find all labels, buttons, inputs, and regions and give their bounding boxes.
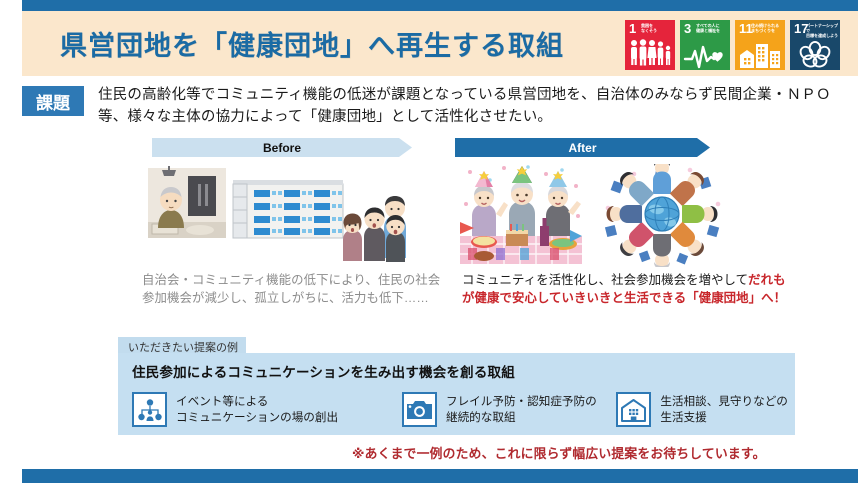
heartbeat-icon (680, 38, 730, 68)
proposal-item-line2: コミュニケーションの場の創出 (176, 410, 338, 426)
city-buildings-icon (735, 38, 785, 68)
before-caption: 自治会・コミュニティ機能の低下により、住民の社会参加機会が減少し、孤立しがちに、… (142, 272, 442, 307)
title-banner: 県営団地を「健康団地」へ再生する取組 1 貧困を なくそう 3 すべての (22, 11, 858, 76)
proposal-item-line1: 生活相談、見守りなどの (660, 394, 788, 410)
sdg-number: 1 (629, 22, 636, 35)
before-banner: Before (152, 138, 412, 157)
people-family-icon (625, 38, 675, 68)
proposal-item-line1: フレイル予防・認知症予防の (446, 394, 597, 410)
proposal-item-line2: 生活支援 (660, 410, 788, 426)
proposal-item-label: 生活相談、見守りなどの 生活支援 (660, 392, 788, 427)
proposal-box: 住民参加によるコミュニケーションを生み出す機会を創る取組 (118, 353, 795, 435)
bottom-accent-bar (22, 469, 858, 483)
page-title: 県営団地を「健康団地」へ再生する取組 (60, 24, 564, 63)
sdg-caption: パートナーシップで 目標を達成しよう (806, 23, 838, 38)
proposal-title: 住民参加によるコミュニケーションを生み出す機会を創る取組 (132, 361, 795, 381)
sdg-icon-1: 1 貧困を なくそう (625, 20, 675, 70)
sdg-number: 3 (684, 22, 691, 35)
after-banner: After (455, 138, 710, 157)
people-network-icon (132, 392, 167, 427)
after-caption-plain: コミュニティを活性化し、社会参加機会を増やして (462, 273, 748, 287)
proposal-items: イベント等による コミュニケーションの場の創出 フレイル予防・認知症予防の 継続… (132, 392, 795, 427)
after-caption: コミュニティを活性化し、社会参加機会を増やしてだれもが健康で安心していきいきと生… (462, 272, 797, 307)
sdg-icon-17: 17 パートナーシップで 目標を達成しよう (790, 20, 840, 70)
proposal-item-line2: 継続的な取組 (446, 410, 597, 426)
proposal-item: イベント等による コミュニケーションの場の創出 (132, 392, 402, 427)
after-illustration (458, 164, 788, 267)
top-accent-bar (22, 0, 858, 11)
sdg-icon-11: 11 住み続けられる まちづくりを (735, 20, 785, 70)
apartment-building-illustration (233, 180, 343, 238)
building-icon (616, 392, 651, 427)
sdg-caption: 住み続けられる まちづくりを (751, 23, 783, 33)
worried-residents-illustration (343, 196, 406, 262)
issue-row: 課題 住民の高齢化等でコミュニティ機能の低迷が課題となっている県営団地を、自治体… (22, 84, 842, 129)
sdg-icon-row: 1 貧困を なくそう 3 すべての人に 健康と福祉を (625, 20, 840, 70)
proposal-item-label: フレイル予防・認知症予防の 継続的な取組 (446, 392, 597, 427)
sdg-icon-3: 3 すべての人に 健康と福祉を (680, 20, 730, 70)
celebration-party-illustration (460, 165, 582, 264)
proposal-item: フレイル予防・認知症予防の 継続的な取組 (402, 392, 616, 427)
camera-icon (402, 392, 437, 427)
sdg-caption: すべての人に 健康と福祉を (696, 23, 728, 33)
sdg-caption: 貧困を なくそう (641, 23, 673, 33)
interlocking-rings-icon (790, 38, 840, 68)
issue-badge: 課題 (22, 86, 84, 116)
proposal-item-line1: イベント等による (176, 394, 338, 410)
footnote: ※あくまで一例のため、これに限らず幅広い提案をお待ちしています。 (352, 443, 766, 462)
lonely-elderly-illustration (148, 166, 226, 238)
proposal-item: 生活相談、見守りなどの 生活支援 (616, 392, 795, 427)
proposal-item-label: イベント等による コミュニケーションの場の創出 (176, 392, 338, 427)
before-illustration (148, 166, 423, 266)
people-circle-globe-illustration (605, 164, 720, 267)
issue-description: 住民の高齢化等でコミュニティ機能の低迷が課題となっている県営団地を、自治体のみな… (98, 84, 842, 129)
